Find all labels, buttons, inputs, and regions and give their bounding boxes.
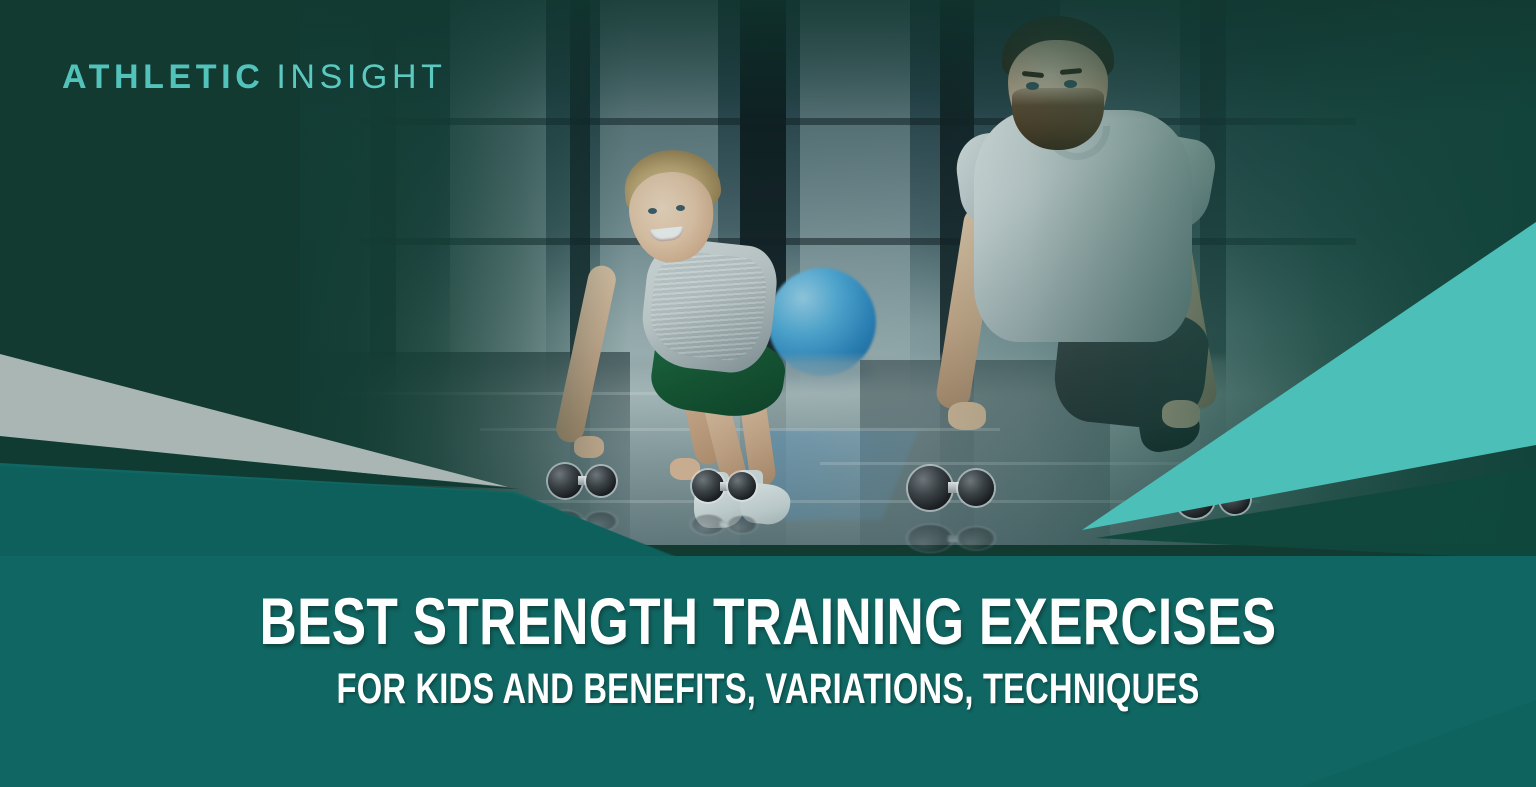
page-title: BEST STRENGTH TRAINING EXERCISES [169, 588, 1367, 654]
brand-logo-secondary: INSIGHT [276, 58, 446, 96]
brand-logo-primary: ATHLETIC [62, 58, 264, 96]
headline-block: BEST STRENGTH TRAINING EXERCISES FOR KID… [0, 588, 1536, 711]
brand-logo[interactable]: ATHLETICINSIGHT [62, 60, 446, 94]
hero-banner: ATHLETICINSIGHT BEST STRENGTH TRAINING E… [0, 0, 1536, 787]
page-subtitle: FOR KIDS AND BENEFITS, VARIATIONS, TECHN… [184, 668, 1351, 711]
